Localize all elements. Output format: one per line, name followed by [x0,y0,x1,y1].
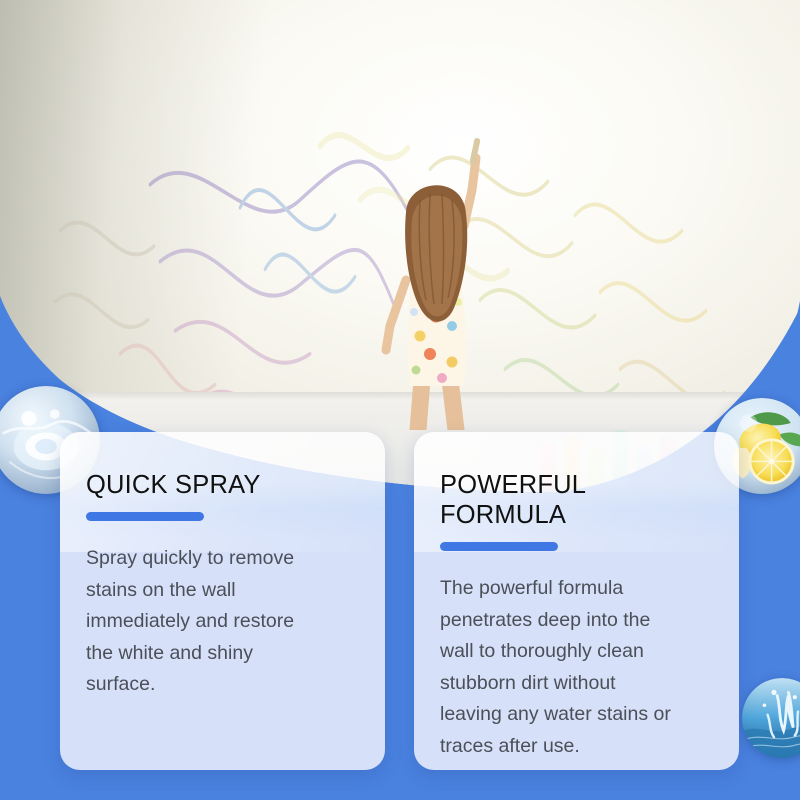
product-feature-banner: QUICK SPRAY Spray quickly to remove stai… [0,0,800,800]
card-body-quick-spray: Spray quickly to remove stains on the wa… [86,543,359,701]
card-accent-rule [86,512,204,521]
child-figure [364,130,504,430]
card-accent-rule [440,542,558,551]
feature-card-quick-spray[interactable]: QUICK SPRAY Spray quickly to remove stai… [60,432,385,770]
card-title-powerful-formula: POWERFUL FORMULA [440,470,713,530]
card-body-powerful-formula: The powerful formula penetrates deep int… [440,573,713,762]
card-title-quick-spray: QUICK SPRAY [86,470,359,500]
feature-card-powerful-formula[interactable]: POWERFUL FORMULA The powerful formula pe… [414,432,739,770]
